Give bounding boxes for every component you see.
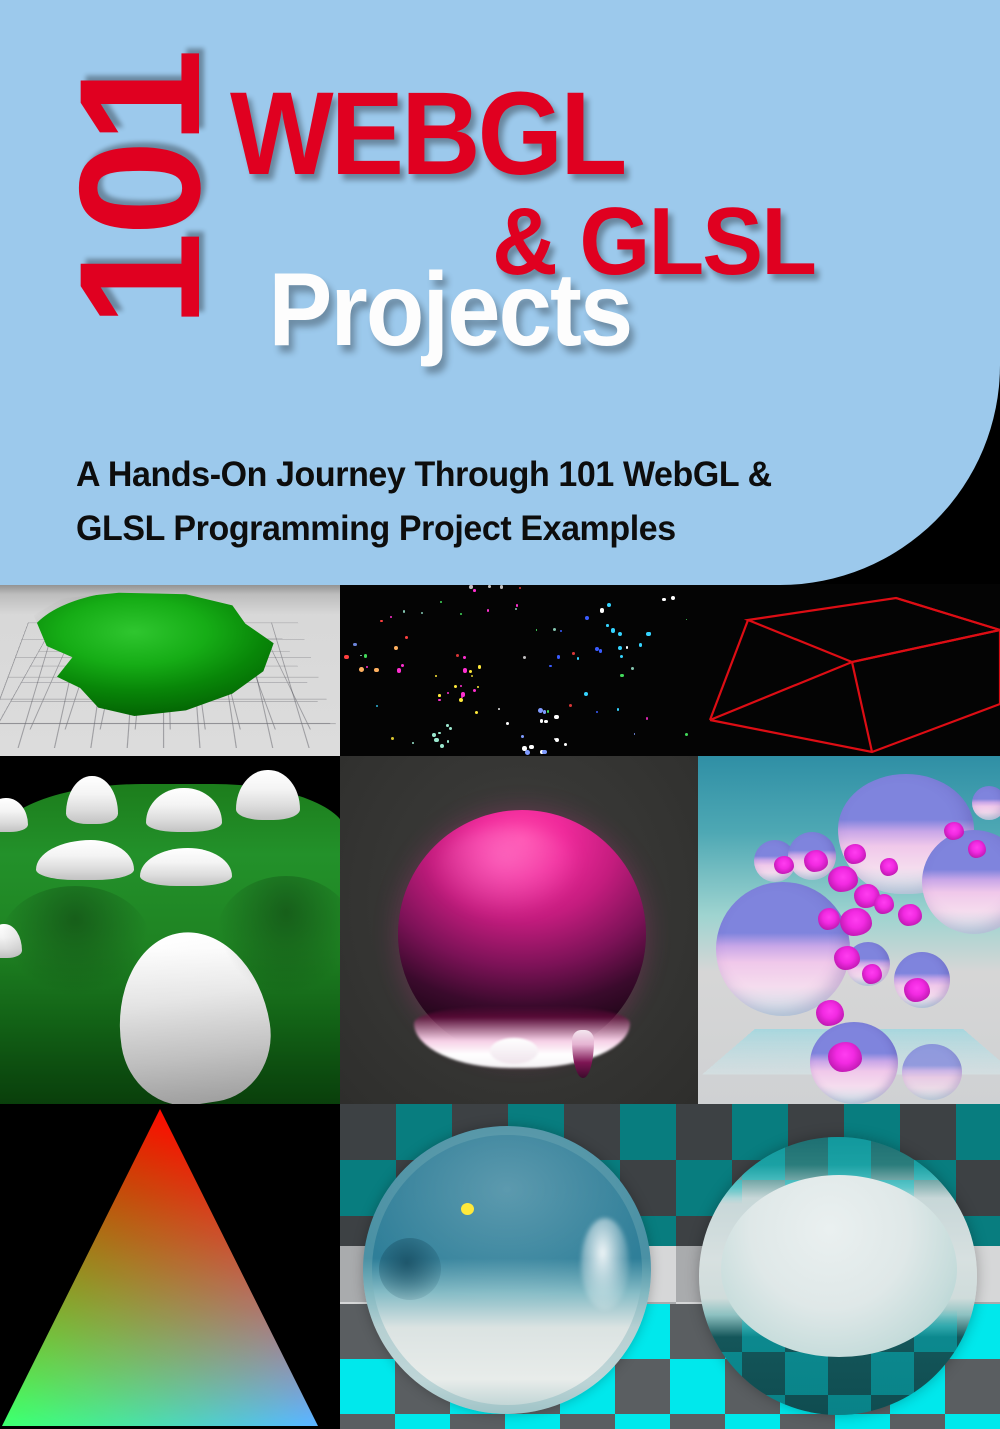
particle [366, 666, 369, 669]
particle [540, 719, 544, 723]
rgb-triangle-background [0, 1104, 340, 1429]
tile-glass-spheres [340, 1104, 1000, 1429]
particle [364, 654, 368, 658]
particle [391, 737, 394, 740]
metaball-sphere [972, 786, 1000, 820]
particle [438, 699, 440, 701]
particle [596, 711, 598, 713]
light-source-dot [461, 1203, 474, 1215]
particle [523, 656, 526, 659]
particle [471, 675, 473, 677]
particle [607, 603, 611, 607]
tile-particles [340, 584, 700, 756]
rgb-triangle-icon [0, 1104, 340, 1429]
particle [584, 692, 588, 696]
glass-scene [340, 1104, 1000, 1429]
glass-sphere-refractive [363, 1126, 651, 1414]
particle [564, 743, 567, 746]
particle [569, 704, 572, 707]
metaballs-background [698, 756, 1000, 1104]
frill-detail [904, 978, 930, 1002]
particle [529, 745, 534, 750]
particle [618, 632, 622, 636]
particle [516, 604, 519, 607]
particle [401, 664, 404, 667]
subtitle-line-1: A Hands-On Journey Through 101 WebGL & [76, 448, 901, 502]
particle [456, 654, 459, 657]
particle-field [340, 584, 700, 756]
subtitle-line-2: GLSL Programming Project Examples [76, 502, 901, 556]
wire-cube-background [700, 584, 1000, 756]
particle [473, 689, 477, 693]
particle [560, 630, 562, 632]
particle [374, 668, 379, 673]
particle [617, 708, 620, 711]
particle [554, 715, 558, 719]
particle [600, 608, 605, 613]
particle [438, 694, 441, 697]
particle [475, 711, 478, 714]
wireframe-cube-icon [700, 584, 1000, 756]
tile-wire-cube [700, 584, 1000, 756]
melting-sphere-background [340, 756, 698, 1104]
frill-detail [774, 856, 794, 874]
sphere-highlight [432, 826, 582, 918]
particle [500, 585, 504, 589]
particle [662, 598, 665, 601]
particle [626, 646, 629, 649]
title-projects: Projects [128, 258, 772, 362]
book-cover: 101 WEBGL & GLSL Projects A Hands-On Jou… [0, 0, 1000, 1429]
particle [438, 732, 441, 735]
particle [394, 646, 398, 650]
inner-reflection [379, 1238, 441, 1300]
particle [525, 750, 530, 755]
metaball-sphere [716, 882, 850, 1016]
frill-detail [828, 1042, 862, 1072]
particle [446, 724, 449, 727]
subtitle: A Hands-On Journey Through 101 WebGL & G… [76, 448, 901, 557]
particle [380, 620, 383, 623]
particle [671, 596, 675, 600]
title-webgl: WEBGL [230, 78, 862, 191]
particle [405, 636, 408, 639]
terrain-background [0, 756, 340, 1104]
particle [477, 686, 479, 688]
particle [440, 601, 442, 603]
particle [543, 710, 547, 714]
frill-detail [862, 964, 882, 984]
particle [506, 722, 509, 725]
particle [634, 733, 636, 735]
particle [599, 649, 603, 653]
particle [498, 708, 500, 710]
particle [544, 720, 548, 724]
particle [639, 643, 643, 647]
particle [547, 710, 550, 713]
particle [460, 613, 462, 615]
particle [344, 655, 349, 660]
frill-detail [804, 850, 828, 872]
particle [478, 665, 481, 668]
particle [577, 657, 580, 660]
frill-detail [818, 908, 840, 930]
particle [463, 656, 466, 659]
particle [585, 616, 589, 620]
frill-detail [880, 858, 898, 876]
frill-detail [844, 844, 866, 864]
frill-detail [874, 894, 894, 914]
particle [553, 628, 556, 631]
particle [473, 589, 476, 592]
particle [618, 646, 622, 650]
particle [515, 608, 518, 611]
particle [440, 744, 444, 748]
particle [646, 717, 649, 720]
frill-detail [898, 904, 922, 926]
frill-detail [840, 908, 872, 936]
specular-highlight [581, 1218, 629, 1310]
particle [685, 733, 688, 736]
particle [353, 643, 357, 647]
particle [631, 667, 634, 670]
tile-rgb-triangle [0, 1104, 340, 1429]
particle [434, 738, 439, 743]
particle [487, 609, 490, 612]
particle [360, 655, 362, 657]
particle [606, 624, 609, 627]
particle [542, 750, 546, 754]
particle [463, 668, 468, 673]
particle [447, 740, 450, 743]
particle [376, 705, 379, 708]
particle [460, 685, 463, 688]
particle [461, 696, 463, 698]
particle [359, 667, 364, 672]
melt-blob [490, 1038, 538, 1064]
particle [469, 670, 473, 674]
thumbnail-gallery [0, 584, 1000, 1429]
particle [647, 632, 651, 636]
particle [421, 612, 423, 614]
particle [488, 585, 491, 588]
frill-detail [828, 866, 858, 892]
particle [435, 675, 437, 677]
particle [620, 655, 623, 658]
particle [572, 652, 575, 655]
cover-header-panel: 101 WEBGL & GLSL Projects A Hands-On Jou… [0, 0, 1000, 585]
frill-detail [816, 1000, 844, 1026]
particle [449, 727, 453, 731]
melt-drip [572, 1030, 594, 1078]
particle [549, 665, 552, 668]
tile-terrain [0, 756, 340, 1104]
particle [686, 619, 688, 621]
particle [454, 685, 457, 688]
particle [611, 628, 615, 632]
particle [459, 698, 463, 702]
glass-sphere-frosted [699, 1137, 977, 1415]
particle [390, 616, 392, 618]
frill-detail [944, 822, 964, 840]
particle [620, 674, 624, 678]
tile-marching-cubes [0, 584, 340, 756]
particle [447, 692, 449, 694]
particle [397, 668, 402, 673]
frill-detail [968, 840, 986, 858]
particle [432, 733, 436, 737]
metaball-sphere [902, 1044, 962, 1100]
frill-detail [834, 946, 860, 970]
frosted-core [721, 1175, 957, 1357]
terrain-vignette [0, 756, 340, 1104]
particle [521, 735, 525, 739]
particle [403, 610, 406, 613]
tile-melting-sphere [340, 756, 698, 1104]
particle [519, 587, 521, 589]
particle [536, 629, 538, 631]
particle [469, 585, 473, 589]
particle [557, 655, 561, 659]
tile-metaballs [698, 756, 1000, 1104]
particle [412, 742, 414, 744]
